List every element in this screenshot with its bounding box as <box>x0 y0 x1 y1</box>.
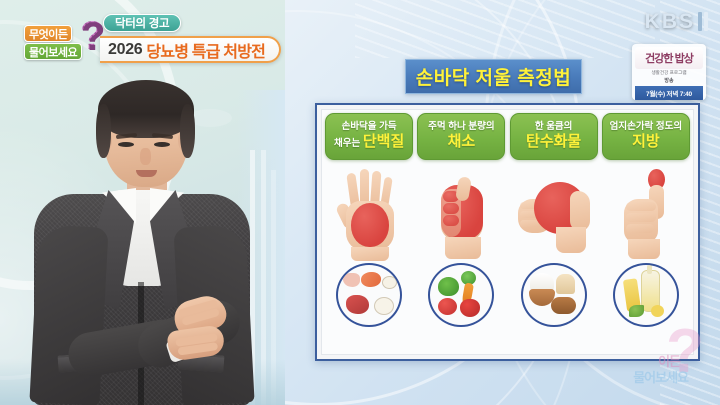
food-oil-neck <box>647 265 652 274</box>
presenter <box>28 78 256 405</box>
chip-prefix: 채우는 <box>334 138 360 149</box>
graphic-title-banner: 손바닥 저울 측정법 <box>405 59 582 94</box>
food-tomato <box>438 298 457 315</box>
label-chip-vegetables: 주먹 하나 분량의 채소 <box>417 113 505 160</box>
protein-foods-icon <box>336 263 402 327</box>
segment-label-pill: 닥터의 경고 <box>103 14 181 32</box>
chip-line2: 지방 <box>632 133 660 151</box>
column-carbohydrates: 한 움큼의 탄수화물 <box>508 113 600 355</box>
promo-logo: 건강한 밥상 <box>635 47 703 69</box>
food-beef <box>346 295 369 314</box>
food-broccoli <box>438 277 459 296</box>
chip-keyword: 지방 <box>632 133 660 150</box>
show-logo-line1: 무엇이든 <box>24 25 72 42</box>
headline-year: 2026 <box>108 41 142 59</box>
promo-subtitle-2: 방송 <box>635 77 703 86</box>
closed-fist-icon <box>419 169 503 261</box>
watermark-line2: 물어보세요 <box>633 367 688 386</box>
presenter-arm-left <box>29 224 108 405</box>
promo-box: 건강한 밥상 생활건강 프로그램 방송 7월(수) 저녁 7:40 <box>632 44 706 100</box>
finger-line <box>626 224 654 233</box>
carbohydrate-foods-icon <box>521 263 587 327</box>
finger-line <box>626 202 656 211</box>
channel-logo-text: KBS <box>645 10 695 34</box>
presenter-eye-left <box>118 142 134 147</box>
wrist <box>556 227 586 253</box>
label-chip-carbohydrates: 한 움큼의 탄수화물 <box>510 113 598 160</box>
chip-line2: 채소 <box>448 133 476 151</box>
wrist <box>445 237 481 259</box>
chip-keyword: 탄수화물 <box>526 133 581 150</box>
food-oil-drop <box>651 305 664 317</box>
channel-logo: KBS <box>645 10 708 34</box>
presenter-body <box>28 186 256 405</box>
show-logo-line2: 물어보세요 <box>24 43 82 60</box>
segment-label-text: 닥터의 경고 <box>115 15 169 31</box>
chip-line2: 채우는 단백질 <box>334 133 404 151</box>
hand-back <box>570 191 590 231</box>
food-bread-loaf <box>551 297 576 314</box>
food-beans <box>382 276 397 289</box>
chip-keyword: 단백질 <box>363 133 404 150</box>
label-chip-protein: 손바닥을 가득 채우는 단백질 <box>325 113 413 160</box>
chip-line1: 한 움큼의 <box>535 122 573 133</box>
thumbs-up-icon <box>604 169 688 261</box>
highlight-region <box>351 203 389 247</box>
presenter-hair-side-left <box>96 104 111 158</box>
wrist <box>351 247 389 261</box>
graphic-title-text: 손바닥 저울 측정법 <box>416 63 571 90</box>
knuckle <box>443 203 459 214</box>
food-bread-slice <box>556 274 575 294</box>
wrist <box>628 239 660 259</box>
column-group: 손바닥을 가득 채우는 단백질 <box>323 113 692 355</box>
channel-number-icon <box>698 12 708 31</box>
presenter-hair-side-right <box>180 104 195 158</box>
promo-airtime: 7월(수) 저녁 7:40 <box>635 86 703 100</box>
food-eggs <box>374 297 394 315</box>
promo-subtitle-1: 생활건강 프로그램 <box>635 69 703 77</box>
label-chip-fat: 엄지손가락 정도의 지방 <box>602 113 690 160</box>
presenter-eye-right <box>154 142 170 147</box>
promo-logo-text: 건강한 밥상 <box>645 50 693 66</box>
broadcast-screen: 손바닥 저울 측정법 손바닥을 가득 채우는 단백질 <box>0 0 720 405</box>
knuckle <box>443 215 459 226</box>
column-protein: 손바닥을 가득 채우는 단백질 <box>323 113 415 355</box>
food-salmon <box>361 272 381 287</box>
headline-bar: 2026 당뇨병 특급 처방전 <box>100 36 281 63</box>
headline-text: 당뇨병 특급 처방전 <box>146 38 265 62</box>
content-card: 손바닥을 가득 채우는 단백질 <box>315 103 700 361</box>
open-palm-icon <box>327 169 411 261</box>
show-logo: ? 무엇이든 물어보세요 <box>24 22 98 64</box>
chip-line2: 탄수화물 <box>526 133 581 151</box>
food-olive-leaf <box>629 305 644 317</box>
food-chicken <box>343 273 360 287</box>
presenter-nose <box>140 148 151 165</box>
chip-line1: 엄지손가락 정도의 <box>610 122 683 133</box>
hatch-decor-top <box>355 0 655 58</box>
finger-line <box>626 213 656 222</box>
chip-line1: 손바닥을 가득 <box>342 122 397 133</box>
column-vegetables: 주먹 하나 분량의 채소 <box>415 113 507 355</box>
chip-line1: 주먹 하나 분량의 <box>428 122 494 133</box>
food-tomato-2 <box>460 299 480 317</box>
chip-keyword: 채소 <box>448 133 476 150</box>
vegetable-foods-icon <box>428 263 494 327</box>
cupped-hand-icon <box>512 169 596 261</box>
show-watermark: ? 이든 물어보세요 <box>594 325 712 399</box>
